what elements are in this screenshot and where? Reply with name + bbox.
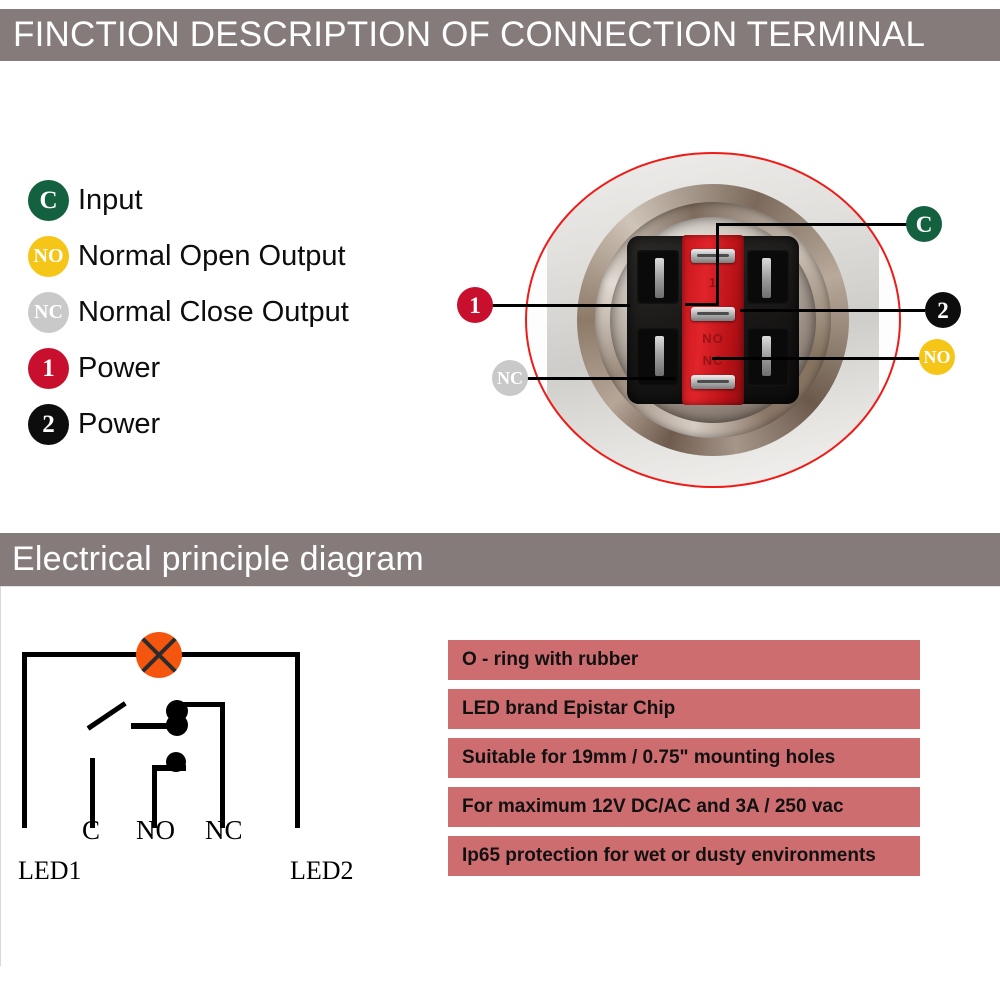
feature-list: O - ring with rubber LED brand Epistar C… [448, 640, 920, 885]
legend-label-2: Power [78, 408, 160, 441]
badge-2: 2 [28, 404, 69, 445]
feature-item: Suitable for 19mm / 0.75" mounting holes [448, 738, 920, 778]
legend-label-no: Normal Open Output [78, 240, 346, 273]
feature-text: For maximum 12V DC/AC and 3A / 250 vac [448, 796, 844, 818]
terminal-screw-1 [691, 249, 735, 263]
callout-badge-c: C [906, 206, 942, 242]
legend-item-c: C Input [28, 172, 349, 228]
legend-label-nc: Normal Close Output [78, 296, 349, 329]
legend-item-no: NO Normal Open Output [28, 228, 349, 284]
electrical-circuit-diagram [0, 600, 400, 900]
leader-line-1 [490, 304, 630, 307]
wire-led1-vertical [22, 652, 27, 828]
badge-no: NO [28, 236, 69, 277]
legend-item-1: 1 Power [28, 340, 349, 396]
badge-1: 1 [28, 348, 69, 389]
feature-item: For maximum 12V DC/AC and 3A / 250 vac [448, 787, 920, 827]
callout-badge-2: 2 [925, 292, 961, 328]
badge-c: C [28, 180, 69, 221]
leader-line-nc [525, 377, 675, 380]
circuit-label-c: C [82, 815, 100, 846]
wire-nc-horizontal [176, 702, 225, 707]
lamp-symbol [136, 632, 182, 678]
feature-item: LED brand Epistar Chip [448, 689, 920, 729]
contact-tab-left-upper [655, 258, 664, 298]
callout-badge-no: NO [919, 339, 955, 375]
leader-line-c-stub [685, 303, 719, 306]
circuit-label-led1: LED1 [18, 856, 82, 886]
contact-dot-common-lower [166, 714, 188, 736]
feature-text: Ip65 protection for wet or dusty environ… [448, 845, 876, 867]
leader-line-2 [740, 309, 925, 312]
circuit-label-nc: NC [205, 815, 243, 846]
feature-text: O - ring with rubber [448, 649, 638, 671]
page-title: FINCTION DESCRIPTION OF CONNECTION TERMI… [0, 15, 925, 55]
principle-section-bar: Electrical principle diagram [0, 533, 1000, 586]
product-photo-area: 1 NO NC 1 NC C 2 NO [440, 140, 1000, 500]
wire-led1-to-lamp [22, 652, 142, 657]
badge-nc: NC [28, 292, 69, 333]
terminal-mark-nc: NC [682, 353, 744, 368]
contact-tab-right-upper [762, 258, 771, 298]
circuit-label-led2: LED2 [290, 856, 354, 886]
red-terminal-block: 1 NO NC [682, 235, 744, 405]
terminal-mark-no: NO [682, 331, 744, 346]
panel-top-divider [0, 586, 1000, 587]
legend-label-1: Power [78, 352, 160, 385]
push-button-switch-photo: 1 NO NC [525, 152, 901, 488]
legend-item-2: 2 Power [28, 396, 349, 452]
feature-item: Ip65 protection for wet or dusty environ… [448, 836, 920, 876]
button-body-image: 1 NO NC [525, 152, 901, 488]
leader-line-c-vert [716, 223, 719, 305]
circuit-label-no: NO [136, 815, 175, 846]
feature-text: Suitable for 19mm / 0.75" mounting holes [448, 747, 835, 769]
leader-line-c-horz [716, 223, 923, 226]
callout-badge-1: 1 [457, 287, 493, 323]
callout-badge-nc: NC [492, 360, 528, 396]
terminal-screw-3 [691, 375, 735, 389]
terminal-mark-1: 1 [682, 275, 744, 290]
leader-line-no [712, 357, 922, 360]
contact-tab-left-lower [655, 336, 664, 376]
feature-text: LED brand Epistar Chip [448, 698, 675, 720]
legend-item-nc: NC Normal Close Output [28, 284, 349, 340]
wire-no-horizontal [152, 765, 186, 771]
contact-tab-right-lower [762, 336, 771, 376]
wire-nc-terminal [220, 702, 225, 828]
feature-item: O - ring with rubber [448, 640, 920, 680]
terminal-screw-2 [691, 307, 735, 321]
wire-led2-vertical [295, 652, 300, 828]
terminal-legend: C Input NO Normal Open Output NC Normal … [28, 172, 349, 452]
header-bar: FINCTION DESCRIPTION OF CONNECTION TERMI… [0, 9, 1000, 61]
wire-lamp-to-led2 [176, 652, 300, 657]
principle-title: Electrical principle diagram [0, 540, 424, 579]
legend-label-c: Input [78, 184, 143, 217]
